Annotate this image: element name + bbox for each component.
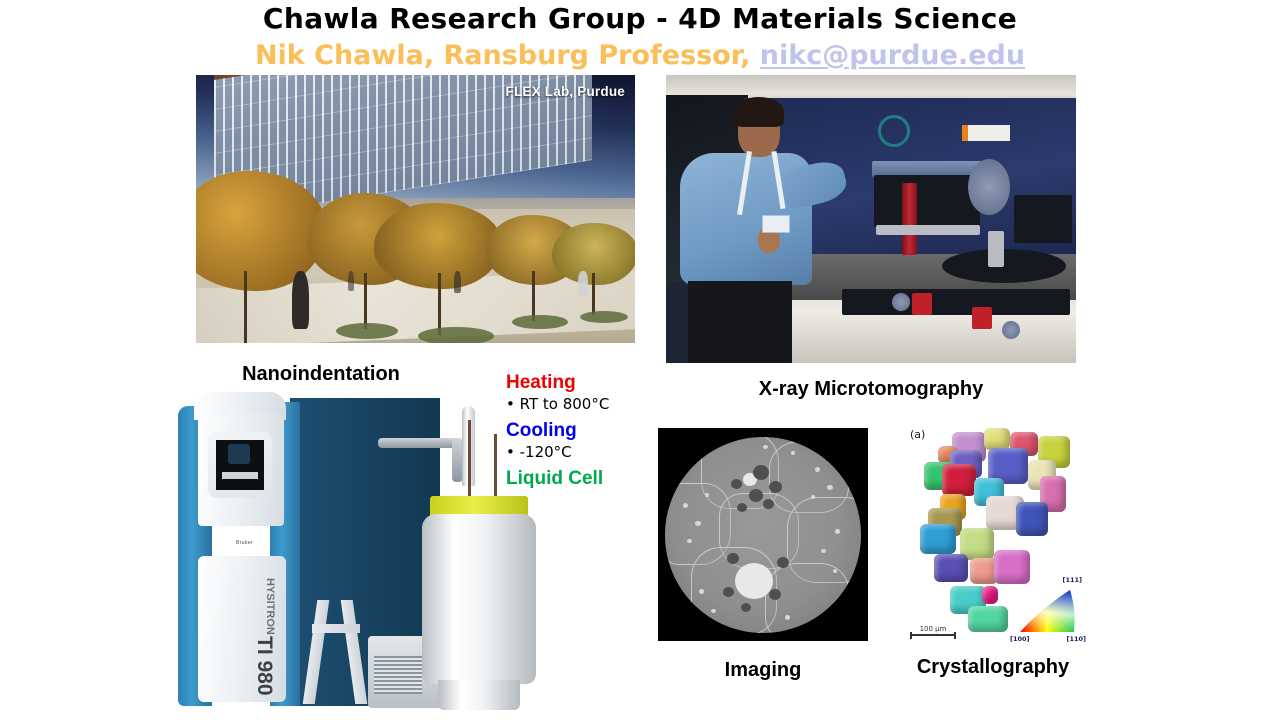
ipf-label-100: [100] <box>1010 635 1030 643</box>
scale-bar: 100 µm <box>910 625 956 636</box>
email-link[interactable]: nikc@purdue.edu <box>760 40 1025 71</box>
ipf-triangle-icon <box>1014 580 1088 640</box>
grain <box>984 428 1010 450</box>
speckle <box>785 615 790 620</box>
subfigure-label: (a) <box>910 428 925 441</box>
porosity <box>737 503 747 512</box>
caption-xray-microtomography: X-ray Microtomography <box>666 377 1076 401</box>
speckle <box>705 493 709 497</box>
speckle <box>815 467 820 472</box>
bruker-logo: Bruker <box>236 540 253 546</box>
coiled-cable <box>878 115 910 147</box>
speckle <box>687 539 692 543</box>
speckle <box>711 609 716 613</box>
shrub <box>336 323 398 339</box>
porosity <box>727 553 739 564</box>
tree-trunk <box>438 273 441 335</box>
support-crossbar <box>312 624 360 633</box>
model-wordmark: TI 980 <box>252 636 276 696</box>
sample-stage-small <box>222 472 258 479</box>
dewar-foot <box>438 680 520 710</box>
grain <box>1016 502 1048 536</box>
shrub <box>580 311 628 323</box>
porosity <box>777 557 789 568</box>
header: Chawla Research Group - 4D Materials Sci… <box>0 0 1280 73</box>
speckle <box>833 569 837 573</box>
caption-imaging: Imaging <box>658 658 868 682</box>
tree-trunk <box>244 271 247 343</box>
ct-cross-section <box>665 437 861 633</box>
xray-microtomography-photo <box>666 75 1076 363</box>
crystallography-3d-grains: (a) 100 µm <box>898 424 1092 650</box>
heating-heading: Heating <box>506 371 624 394</box>
probe-rod <box>468 420 471 498</box>
nanoindenter-instrument-image: Bruker HYSITRON TI 980 <box>172 388 544 716</box>
environment-options-list: Heating • RT to 800°C Cooling • -120°C L… <box>506 371 624 491</box>
speckle <box>695 521 701 526</box>
speckle <box>811 495 815 499</box>
speckle <box>827 485 833 490</box>
speckle <box>791 451 795 455</box>
tree-trunk <box>592 273 595 315</box>
red-clamp <box>972 307 992 329</box>
grain <box>920 524 956 554</box>
warning-label <box>962 125 1010 141</box>
source-housing <box>874 175 980 227</box>
grain <box>982 586 998 604</box>
detector-box <box>1014 195 1072 243</box>
hysitron-wordmark: HYSITRON <box>264 578 276 635</box>
ipf-label-111: [111] <box>1062 576 1082 584</box>
ct-imaging-slice <box>658 428 868 641</box>
sample-stage <box>876 225 980 235</box>
porosity <box>769 589 781 600</box>
specimen-holder <box>988 231 1004 267</box>
rotary-disc <box>968 159 1010 215</box>
ipf-color-key: [111] [100] [110] <box>1014 580 1088 640</box>
bright-phase-region <box>735 563 773 599</box>
author-name: Nik Chawla, Ransburg Professor, <box>255 40 760 71</box>
shrub <box>418 327 494 343</box>
person-pants <box>688 281 792 363</box>
speckle <box>763 445 768 449</box>
pedestrian <box>454 271 461 293</box>
cooling-heading: Cooling <box>506 419 624 442</box>
page-subtitle: Nik Chawla, Ransburg Professor, nikc@pur… <box>0 39 1280 73</box>
red-clamp <box>912 293 932 315</box>
id-badge <box>762 215 790 233</box>
liquid-cell-heading: Liquid Cell <box>506 467 624 491</box>
handwheel <box>892 293 910 311</box>
grain <box>942 464 976 496</box>
probe-rod <box>494 434 497 498</box>
red-cylinder <box>902 183 917 255</box>
scale-bar-label: 100 µm <box>910 625 956 633</box>
flex-lab-building-image: FLEX Lab, Purdue <box>196 75 635 343</box>
porosity <box>749 489 763 502</box>
grain <box>934 554 968 582</box>
speckle <box>835 529 840 534</box>
speckle <box>821 549 826 553</box>
cooling-range: • -120°C <box>506 442 624 463</box>
pedestrian <box>292 271 309 329</box>
transfer-arm <box>378 438 460 448</box>
speckle <box>683 503 688 508</box>
tree-trunk <box>364 273 367 329</box>
rotation-table <box>942 249 1066 283</box>
caption-crystallography: Crystallography <box>890 655 1096 679</box>
caption-nanoindentation: Nanoindentation <box>196 362 446 386</box>
ipf-label-110: [110] <box>1066 635 1086 643</box>
porosity <box>723 587 734 597</box>
liquid-nitrogen-dewar <box>422 514 536 684</box>
porosity <box>753 465 769 480</box>
rail-assembly <box>842 289 1070 315</box>
speckle <box>699 589 704 594</box>
porosity <box>769 481 782 493</box>
scale-bar-line <box>910 634 956 636</box>
porosity <box>731 479 742 489</box>
shrub <box>512 315 568 329</box>
pedestrian <box>348 271 354 291</box>
flex-lab-overlay-label: FLEX Lab, Purdue <box>506 84 625 99</box>
indenter-head <box>228 444 250 464</box>
porosity <box>741 603 751 612</box>
pump-vents <box>374 656 422 694</box>
grain <box>968 606 1008 632</box>
handwheel <box>1002 321 1020 339</box>
tree-trunk <box>532 271 535 321</box>
person-hair <box>734 97 784 127</box>
page-title: Chawla Research Group - 4D Materials Sci… <box>0 2 1280 36</box>
porosity <box>763 499 774 509</box>
cyclist <box>578 271 588 295</box>
grain <box>994 550 1030 584</box>
heating-range: • RT to 800°C <box>506 394 624 415</box>
